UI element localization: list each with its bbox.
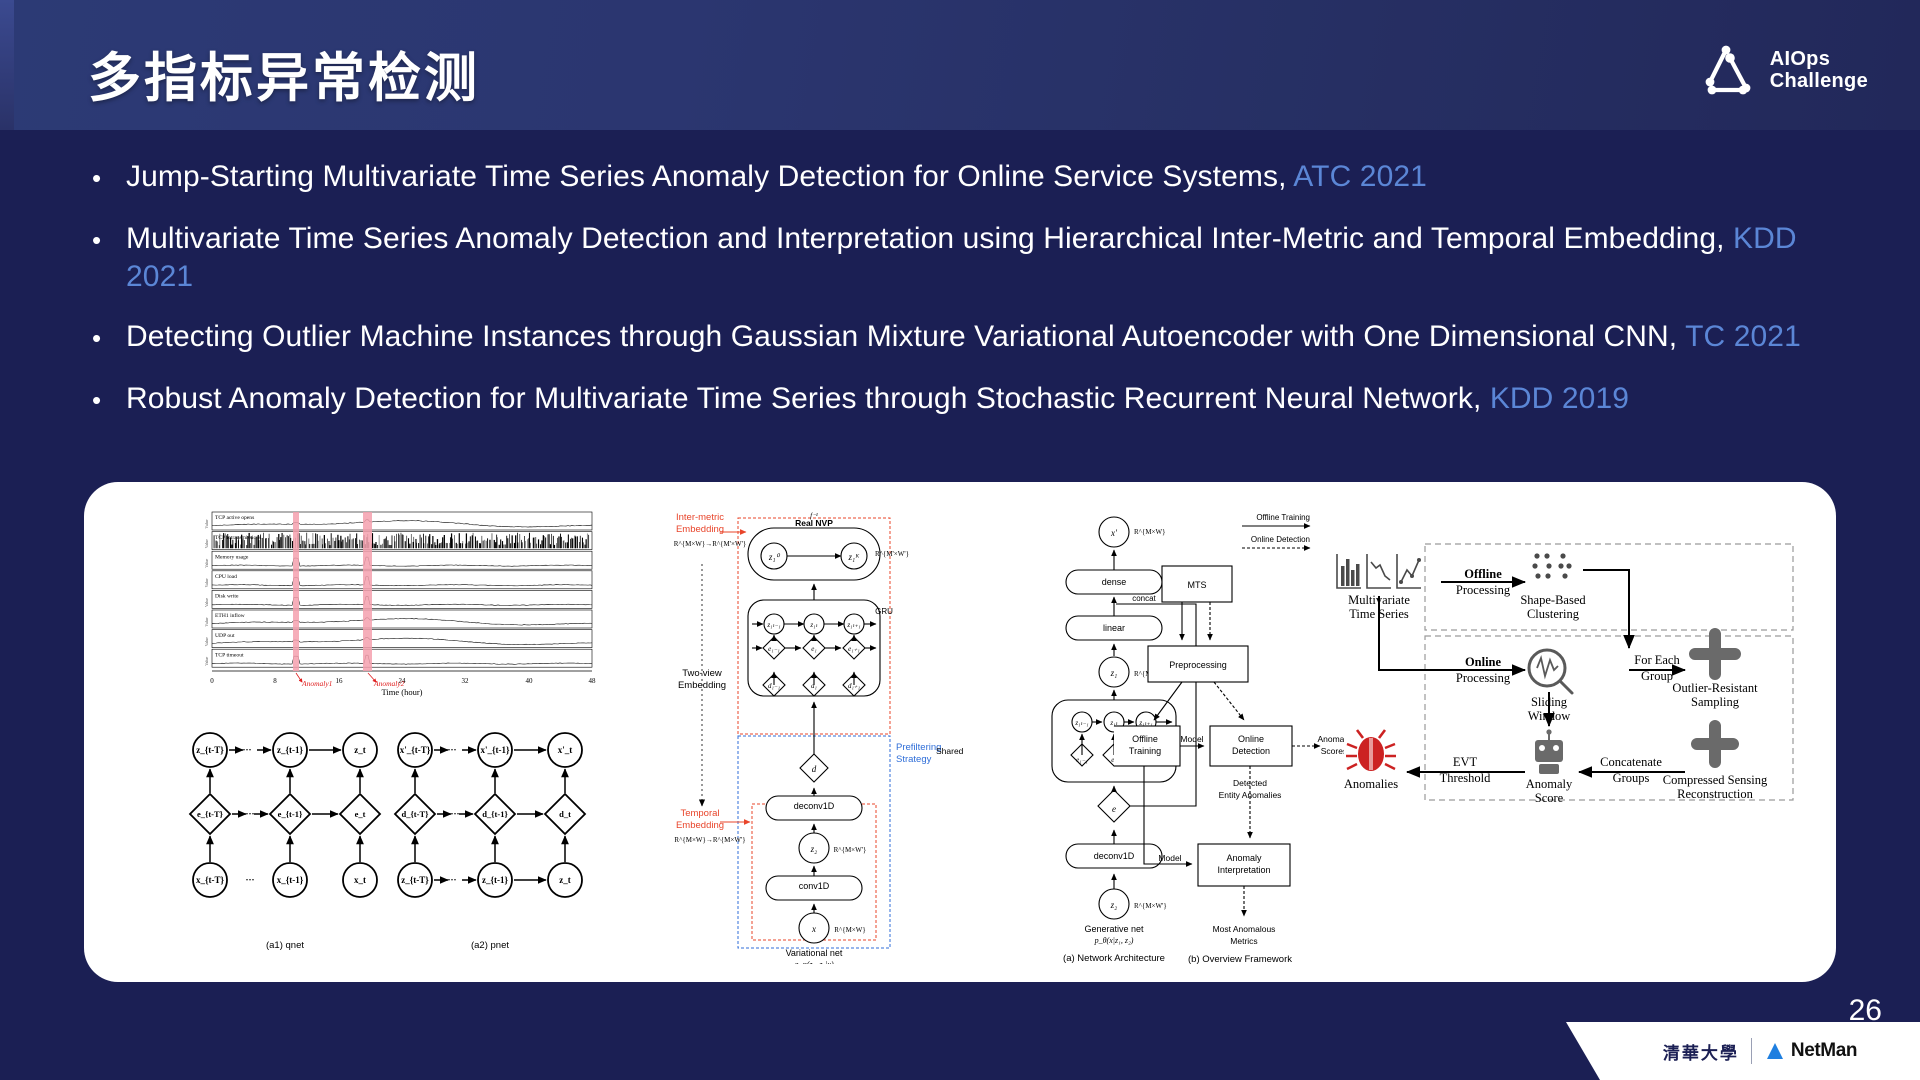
box-mts-label: MTS — [1188, 580, 1207, 590]
svg-text:Sliding: Sliding — [1531, 695, 1568, 709]
anomaly1-highlight — [293, 512, 299, 671]
bullet-marker: • — [84, 158, 126, 198]
svg-text:e₁₊₁: e₁₊₁ — [848, 645, 860, 653]
node-label: ··· — [447, 875, 456, 885]
node-label: ··· — [242, 745, 251, 755]
tsinghua-logo: 清華大學 — [1663, 1039, 1739, 1064]
node-label: x_{t-1} — [277, 875, 304, 885]
node-label: z_{t-1} — [277, 745, 304, 755]
block-deconv1d-label: deconv1D — [794, 801, 835, 811]
svg-text:R^{M×W}: R^{M×W} — [834, 926, 865, 934]
paper-venue: TC 2021 — [1685, 320, 1801, 353]
svg-text:Window: Window — [1528, 709, 1571, 723]
gru-label: GRU — [875, 607, 893, 616]
svg-text:Multivariate: Multivariate — [1348, 593, 1410, 607]
svg-text:e₁: e₁ — [811, 645, 817, 653]
svg-text:Embedding: Embedding — [678, 680, 726, 691]
y-axis-label: Value — [204, 656, 209, 665]
svg-text:Score: Score — [1535, 791, 1564, 805]
svg-text:z₁ₜ: z₁ₜ — [809, 621, 818, 629]
paper-title: Robust Anomaly Detection for Multivariat… — [126, 382, 1490, 415]
svg-text:Training: Training — [1129, 746, 1161, 756]
svg-text:Detection: Detection — [1232, 746, 1270, 756]
node-label: x'_{t-T} — [400, 745, 431, 755]
list-item: • Jump-Starting Multivariate Time Series… — [84, 158, 1864, 198]
svg-text:Model: Model — [1180, 734, 1203, 744]
bullet-text: Robust Anomaly Detection for Multivariat… — [126, 380, 1864, 418]
svg-text:Groups: Groups — [1613, 771, 1650, 785]
svg-text:For Each: For Each — [1634, 653, 1680, 667]
svg-text:d₁₋₁: d₁₋₁ — [768, 682, 780, 690]
svg-text:R^{M'×W'}: R^{M'×W'} — [875, 550, 909, 558]
svg-text:d: d — [812, 764, 817, 774]
y-axis-label: Value — [204, 558, 209, 567]
svg-text:R^{M×W'}: R^{M×W'} — [834, 846, 867, 854]
svg-text:Inter-metric: Inter-metric — [676, 512, 724, 523]
footer-divider — [1751, 1038, 1752, 1064]
svg-text:z₁ₜ₋₁: z₁ₜ₋₁ — [1074, 719, 1088, 727]
netman-label: NetMan — [1791, 1040, 1857, 1062]
aiops-challenge-logo: AIOps Challenge — [1702, 44, 1868, 96]
block-conv1d-label: conv1D — [799, 881, 830, 891]
logo-line-1: AIOps — [1770, 48, 1868, 70]
svg-text:Interpretation: Interpretation — [1217, 865, 1270, 875]
aiops-triangle-node-mark — [1702, 44, 1758, 96]
svg-text:Processing: Processing — [1456, 671, 1511, 685]
y-axis-label: Value — [204, 617, 209, 626]
legend-offline-label: Offline Training — [1256, 513, 1310, 522]
svg-text:z₁ᴷ: z₁ᴷ — [847, 552, 860, 562]
svg-text:Anomaly: Anomaly — [1226, 853, 1262, 863]
bullet-marker: • — [84, 380, 126, 420]
node-label: ··· — [450, 809, 459, 819]
node-label: x'_{t-1} — [480, 745, 510, 755]
svg-text:Most Anomalous: Most Anomalous — [1213, 924, 1276, 934]
svg-text:e₁₋₁: e₁₋₁ — [768, 645, 780, 653]
svg-text:8: 8 — [273, 677, 277, 685]
multivariate-timeseries-icon — [1337, 554, 1421, 588]
compressed-sensing-icon — [1691, 720, 1739, 768]
network-architecture-figure: deconv1D conv1D Real NVP GRU z₁⁰z₁ᴷ z₁ₜ₋… — [674, 504, 1094, 964]
node-label: z_t — [559, 875, 571, 885]
prefiltering-label: PrefilteringStrategy — [896, 742, 941, 765]
svg-text:Offline: Offline — [1132, 734, 1158, 744]
pnet-caption: (a2) pnet — [471, 940, 509, 951]
svg-text:Two-view: Two-view — [682, 668, 722, 679]
node-label: ··· — [447, 745, 456, 755]
overview-framework-figure: Offline Training Online Detection — [1114, 504, 1344, 964]
node-label: z_t — [354, 745, 366, 755]
paper-venue: ATC 2021 — [1293, 160, 1427, 193]
qnet-caption: (a1) qnet — [266, 940, 304, 951]
svg-text:Prefiltering: Prefiltering — [896, 742, 941, 753]
svg-text:EVT: EVT — [1453, 755, 1478, 769]
bullet-text: Jump-Starting Multivariate Time Series A… — [126, 158, 1864, 196]
netman-logo: NetMan — [1764, 1040, 1857, 1062]
svg-text:Online: Online — [1465, 655, 1502, 669]
variational-formula: q_φ(z₁, z₂|x) — [794, 960, 834, 964]
temporal-label: TemporalEmbedding — [676, 808, 724, 831]
slide-header: 多指标异常检测 AIOps Challeng — [0, 0, 1920, 130]
paper-title: Multivariate Time Series Anomaly Detecti… — [126, 222, 1733, 255]
svg-text:Online: Online — [1238, 734, 1264, 744]
svg-text:z₂: z₂ — [810, 844, 818, 854]
header-accent-bar — [0, 0, 14, 130]
svg-text:Clustering: Clustering — [1527, 607, 1580, 621]
svg-text:Anomaly: Anomaly — [1526, 777, 1573, 791]
svg-text:z₁ₜ₋₁: z₁ₜ₋₁ — [766, 621, 780, 629]
svg-text:48: 48 — [589, 677, 597, 685]
svg-text:40: 40 — [526, 677, 534, 685]
svg-text:Metrics: Metrics — [1230, 936, 1257, 946]
node-label: ··· — [245, 875, 254, 885]
svg-text:0: 0 — [210, 677, 214, 685]
node-label: d_t — [559, 809, 571, 819]
y-axis-label: Value — [204, 578, 209, 587]
paper-title: Detecting Outlier Machine Instances thro… — [126, 320, 1685, 353]
node-label: e_{t-1} — [278, 809, 303, 819]
svg-text:Outlier-Resistant: Outlier-Resistant — [1672, 681, 1758, 695]
svg-text:d₁₊₁: d₁₊₁ — [848, 682, 860, 690]
svg-text:Concatenate: Concatenate — [1600, 755, 1662, 769]
node-label: z_{t-1} — [482, 875, 509, 885]
svg-text:R^{M×W}→R^{M×W'}: R^{M×W}→R^{M×W'} — [674, 836, 745, 844]
metric-label: TCP active opens — [215, 515, 254, 521]
box-preprocessing-label: Preprocessing — [1169, 660, 1227, 670]
svg-text:Model: Model — [1158, 853, 1181, 863]
footer-bar: 清華大學 NetMan — [1600, 1022, 1920, 1080]
anomaly2-label: Anomaly2 — [373, 679, 405, 688]
list-item: • Robust Anomaly Detection for Multivari… — [84, 380, 1864, 420]
bullet-text: Detecting Outlier Machine Instances thro… — [126, 318, 1864, 356]
bullet-marker: • — [84, 318, 126, 358]
multivariate-timeseries-figure: TCP active opensValueTCP retransmissions… — [180, 510, 600, 700]
svg-text:Reconstruction: Reconstruction — [1677, 787, 1753, 801]
svg-text:Embedding: Embedding — [676, 820, 724, 831]
overview-framework-caption: (b) Overview Framework — [1188, 954, 1292, 964]
slide-root: 多指标异常检测 AIOps Challeng — [0, 0, 1920, 1080]
svg-text:Offline: Offline — [1464, 567, 1502, 581]
pipeline-figure: MultivariateTime Series Shape-BasedClust… — [1329, 540, 1799, 840]
metric-label: UDP out — [215, 633, 235, 639]
node-label: e_{t-T} — [197, 809, 224, 819]
node-label: e_t — [355, 809, 366, 819]
svg-text:z₁ₜ₊₁: z₁ₜ₊₁ — [846, 621, 860, 629]
bullet-marker: • — [84, 220, 126, 260]
node-label: x_{t-T} — [196, 875, 225, 885]
node-label: z_{t-T} — [196, 745, 224, 755]
paper-title: Jump-Starting Multivariate Time Series A… — [126, 160, 1293, 193]
page-title: 多指标异常检测 — [88, 36, 480, 112]
y-axis-label: Value — [204, 637, 209, 646]
node-label: d_{t-1} — [482, 809, 508, 819]
two-view-label: Two-viewEmbedding — [678, 668, 726, 691]
svg-text:e₁₋₁: e₁₋₁ — [1076, 756, 1088, 764]
sliding-window-icon — [1529, 650, 1572, 693]
node-label: x'_t — [558, 745, 573, 755]
x-axis-label: Time (hour) — [381, 687, 422, 697]
svg-text:Time Series: Time Series — [1349, 607, 1409, 621]
svg-text:Detected: Detected — [1233, 778, 1267, 788]
metric-label: Disk write — [215, 594, 239, 600]
svg-text:Compressed Sensing: Compressed Sensing — [1663, 773, 1768, 787]
bullet-text: Multivariate Time Series Anomaly Detecti… — [126, 220, 1864, 296]
svg-text:Processing: Processing — [1456, 583, 1511, 597]
metric-label: TCP retransmissions — [215, 535, 261, 541]
svg-text:x: x — [811, 924, 816, 934]
svg-text:Group: Group — [1641, 669, 1673, 683]
shared-label: Shared — [936, 746, 964, 756]
metric-label: TCP timeout — [215, 652, 244, 658]
shape-based-clustering-icon — [1532, 553, 1571, 578]
svg-text:z₁⁰: z₁⁰ — [768, 552, 781, 562]
y-axis-label: Value — [204, 539, 209, 548]
y-axis-label: Value — [204, 598, 209, 607]
svg-text:32: 32 — [462, 677, 470, 685]
svg-text:Sampling: Sampling — [1691, 695, 1740, 709]
svg-text:Threshold: Threshold — [1440, 771, 1491, 785]
netman-mark-icon — [1764, 1040, 1786, 1062]
svg-text:Embedding: Embedding — [676, 524, 724, 535]
node-label: x_t — [354, 875, 366, 885]
logo-text-block: AIOps Challenge — [1770, 48, 1868, 93]
svg-text:Shape-Based: Shape-Based — [1520, 593, 1586, 607]
node-label: z_{t-T} — [401, 875, 429, 885]
metric-label: CPU load — [215, 574, 237, 580]
anomalies-bug-icon — [1346, 730, 1396, 771]
logo-line-2: Challenge — [1770, 70, 1868, 92]
metric-label: ETH1 inflow — [215, 612, 246, 619]
anomaly-score-robot-icon — [1535, 729, 1563, 774]
node-label: ··· — [245, 809, 254, 819]
anomaly1-label: Anomaly1 — [301, 679, 332, 688]
svg-text:Temporal: Temporal — [680, 808, 719, 819]
variational-net-label: Variational net — [786, 948, 843, 958]
metric-label: Memory usage — [215, 554, 249, 560]
svg-text:16: 16 — [336, 677, 344, 685]
anomaly2-highlight — [363, 512, 372, 671]
svg-text:R^{M×W}→R^{M'×W'}: R^{M×W}→R^{M'×W'} — [674, 540, 746, 548]
node-label: d_{t-T} — [401, 809, 429, 819]
list-item: • Detecting Outlier Machine Instances th… — [84, 318, 1864, 358]
svg-text:Anomalies: Anomalies — [1344, 777, 1398, 791]
list-item: • Multivariate Time Series Anomaly Detec… — [84, 220, 1864, 296]
legend-online-label: Online Detection — [1251, 535, 1310, 544]
reference-list: • Jump-Starting Multivariate Time Series… — [84, 158, 1864, 442]
svg-text:Entity Anomalies: Entity Anomalies — [1219, 790, 1282, 800]
svg-text:Strategy: Strategy — [896, 754, 932, 765]
graphical-models-figure: z_{t-T}z_{t-1}z_te_{t-T}e_{t-1}e_tx_{t-T… — [180, 710, 600, 958]
paper-venue: KDD 2019 — [1490, 382, 1629, 415]
svg-text:d₁: d₁ — [811, 682, 817, 690]
figure-card: TCP active opensValueTCP retransmissions… — [84, 482, 1836, 982]
y-axis-label: Value — [204, 519, 209, 528]
svg-text:f⁻¹: f⁻¹ — [810, 512, 818, 520]
inter-metric-label: Inter-metricEmbedding — [676, 512, 724, 535]
